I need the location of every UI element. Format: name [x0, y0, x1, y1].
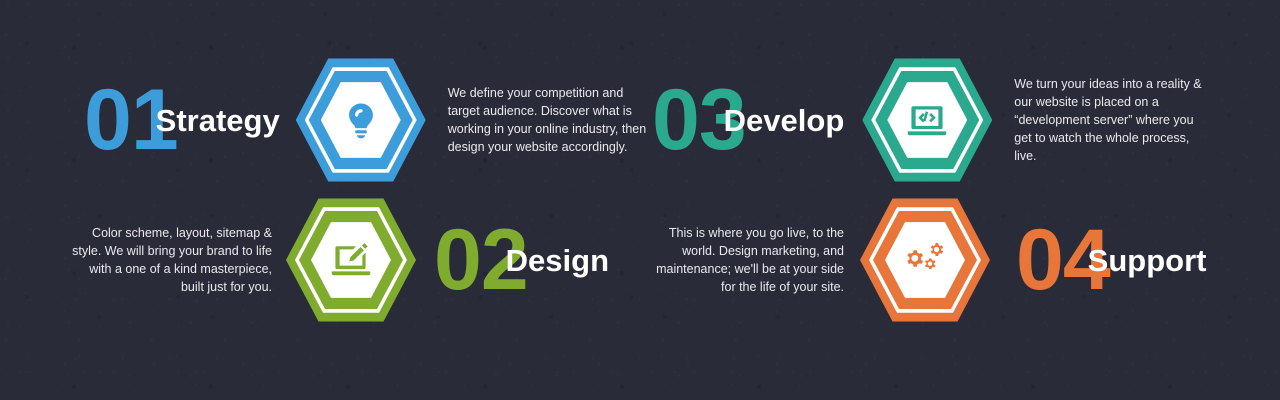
lightbulb-icon	[339, 98, 383, 142]
step-title: Support	[1088, 245, 1207, 276]
step-description: We define your competition and target au…	[448, 84, 648, 157]
step-title: Develop	[724, 105, 845, 136]
steps-container: 01 Strategy We define your competition a…	[0, 0, 1280, 400]
gears-icon	[903, 238, 947, 282]
step-number-title-develop: 03 Develop	[652, 77, 844, 163]
step-description: We turn your ideas into a reality & our …	[1014, 75, 1214, 166]
step-card-develop: 03 Develop We turn your ideas into a rea…	[640, 45, 1280, 195]
step-number-title-design: 02 Design	[434, 217, 609, 303]
laptop-code-icon	[905, 98, 949, 142]
hex-badge-design[interactable]	[286, 196, 416, 324]
hex-badge-strategy[interactable]	[296, 56, 426, 184]
step-title: Strategy	[156, 105, 280, 136]
step-description: This is where you go live, to the world.…	[644, 224, 844, 297]
step-card-support: This is where you go live, to the world.…	[640, 185, 1280, 335]
step-card-design: Color scheme, layout, sitemap & style. W…	[0, 185, 640, 335]
hex-badge-develop[interactable]	[862, 56, 992, 184]
step-title: Design	[506, 245, 609, 276]
step-card-strategy: 01 Strategy We define your competition a…	[0, 45, 640, 195]
step-number-title-support: 04 Support	[1016, 217, 1206, 303]
step-number-title-strategy: 01 Strategy	[84, 77, 280, 163]
laptop-pencil-icon	[329, 238, 373, 282]
infographic-canvas: 01 Strategy We define your competition a…	[0, 0, 1280, 400]
hex-badge-support[interactable]	[860, 196, 990, 324]
step-description: Color scheme, layout, sitemap & style. W…	[72, 224, 272, 297]
